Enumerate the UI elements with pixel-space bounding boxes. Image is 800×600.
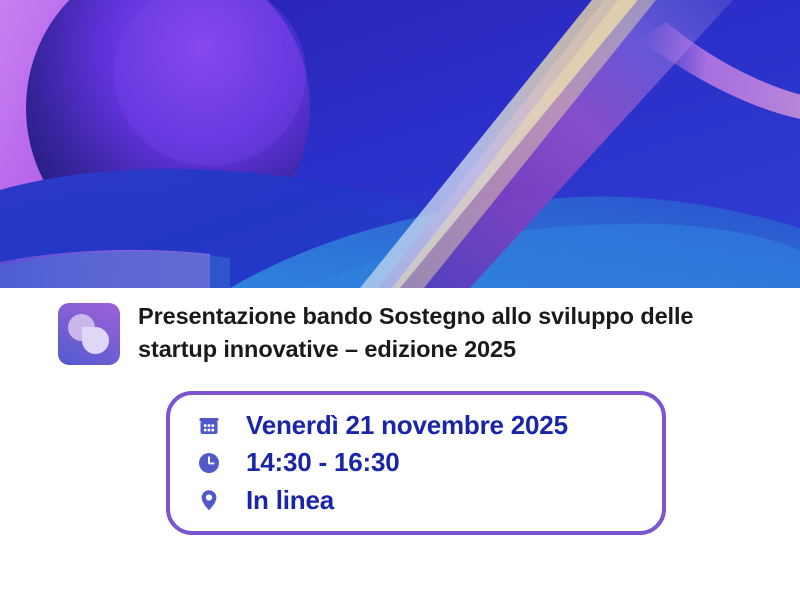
detail-row-time: 14:30 - 16:30	[196, 446, 640, 479]
detail-row-location: In linea	[196, 484, 640, 517]
title-block: Presentazione bando Sostegno allo svilup…	[58, 300, 758, 367]
detail-row-date: Venerdì 21 novembre 2025	[196, 409, 640, 442]
event-announcement-card: Presentazione bando Sostegno allo svilup…	[0, 0, 800, 600]
detail-date-text: Venerdì 21 novembre 2025	[246, 410, 568, 441]
icon-drop-shape	[82, 327, 109, 354]
hero-banner-image	[0, 0, 800, 288]
detail-time-text: 14:30 - 16:30	[246, 447, 400, 478]
calendar-icon	[196, 413, 222, 439]
detail-location-text: In linea	[246, 485, 334, 516]
teams-live-event-icon	[58, 303, 120, 365]
event-title: Presentazione bando Sostegno allo svilup…	[138, 300, 738, 367]
event-details-box: Venerdì 21 novembre 2025 14:30 - 16:30 I…	[166, 391, 666, 535]
clock-icon	[196, 450, 222, 476]
location-pin-icon	[196, 487, 222, 513]
